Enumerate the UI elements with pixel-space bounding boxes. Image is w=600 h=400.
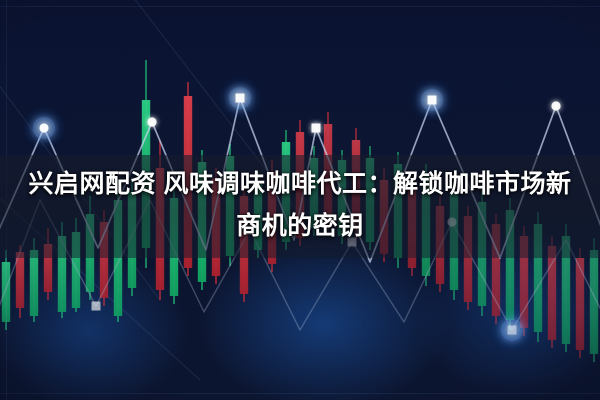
data-point-node (92, 302, 101, 311)
headline-line-1: 兴启网配资 风味调味咖啡代工：解锁咖啡市场新 (29, 170, 572, 198)
data-point-node (508, 326, 517, 335)
data-point-node (551, 101, 560, 110)
data-point-node (39, 123, 48, 132)
data-point-node (147, 117, 156, 126)
data-point-node (428, 96, 437, 105)
banner-image: 兴启网配资 风味调味咖啡代工：解锁咖啡市场新 商机的密钥 (0, 0, 600, 400)
candlestick (576, 248, 584, 358)
data-point-node (236, 94, 245, 103)
headline-line-2: 商机的密钥 (8, 205, 592, 247)
data-point-node (312, 124, 321, 133)
headline-text: 兴启网配资 风味调味咖啡代工：解锁咖啡市场新 商机的密钥 (0, 163, 600, 247)
